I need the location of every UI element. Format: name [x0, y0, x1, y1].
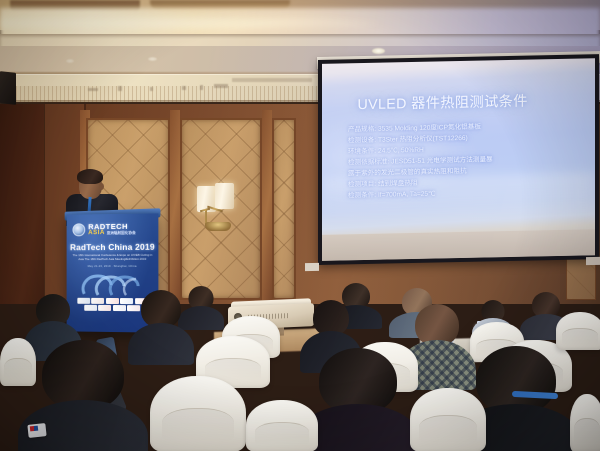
av-fixture	[182, 86, 186, 90]
podium-event-title: RadTech China 2019	[67, 242, 159, 253]
av-fixture	[88, 88, 98, 91]
chair-seam	[419, 415, 477, 443]
sconce-base	[205, 222, 231, 231]
chair	[246, 400, 318, 451]
chair	[556, 312, 600, 350]
wall-speaker	[0, 71, 16, 105]
chair-seam	[562, 328, 598, 345]
chair-seam	[162, 408, 235, 441]
wall-column-left	[0, 104, 44, 304]
slide-body: 产品规格: 3535 Molding 120度ICP氮化铝基板 检测设备: T3…	[348, 120, 583, 202]
sconce-shade-right	[215, 183, 234, 209]
av-rail	[232, 78, 312, 82]
screen-bar-right	[586, 257, 600, 265]
conference-room-photo: UVLED 器件热阻测试条件 产品规格: 3535 Molding 120度IC…	[0, 0, 600, 451]
av-fixture	[214, 84, 228, 88]
ceiling-downlight	[148, 57, 157, 61]
screen-lower-band	[322, 230, 595, 261]
presenter-hair	[77, 169, 103, 184]
door-frame	[262, 110, 272, 304]
sponsor-logo	[98, 305, 111, 311]
av-fixture	[118, 86, 122, 91]
chair	[570, 394, 600, 451]
ceiling-downlight	[372, 48, 385, 54]
screen-bar-left	[305, 263, 319, 271]
chair	[150, 376, 246, 451]
podium-event-date: May 21-23, 2019 · Shanghai, China	[71, 265, 155, 268]
chair-seam	[255, 422, 310, 445]
sponsor-logo	[113, 305, 126, 311]
projection-screen-frame: UVLED 器件热阻测试条件 产品规格: 3535 Molding 120度IC…	[318, 54, 599, 265]
podium-org-logo: RADTECH ASIA 亚洲辐射固化协会	[72, 221, 152, 239]
chair	[410, 388, 486, 451]
org-line2-sub: 亚洲辐射固化协会	[107, 231, 136, 235]
podium-event-subtitle: The 18th International Conference & Expo…	[71, 253, 155, 262]
cove-lighting-hotspot	[0, 14, 380, 32]
wall-fabric-panel	[272, 118, 296, 300]
presenter-ear	[99, 183, 104, 190]
av-fixture	[150, 87, 153, 91]
sponsor-logo	[91, 298, 104, 304]
radtech-emblem-icon	[72, 223, 85, 236]
sponsor-logo	[106, 298, 119, 304]
chair-seam	[574, 418, 600, 444]
org-name-line2: ASIA 亚洲辐射固化协会	[88, 230, 135, 237]
podium-brand-text: RADTECH ASIA 亚洲辐射固化协会	[88, 222, 135, 236]
org-line2-main: ASIA	[88, 229, 104, 236]
slide-title: UVLED 器件热阻测试条件	[357, 89, 575, 114]
ceiling-downlight	[66, 59, 74, 63]
door-frame	[170, 110, 180, 304]
badge-flag-icon	[30, 426, 38, 432]
av-fixture	[200, 85, 203, 90]
projection-screen-surface: UVLED 器件热阻测试条件 产品规格: 3535 Molding 120度IC…	[322, 58, 595, 261]
sponsor-logo	[84, 305, 97, 311]
